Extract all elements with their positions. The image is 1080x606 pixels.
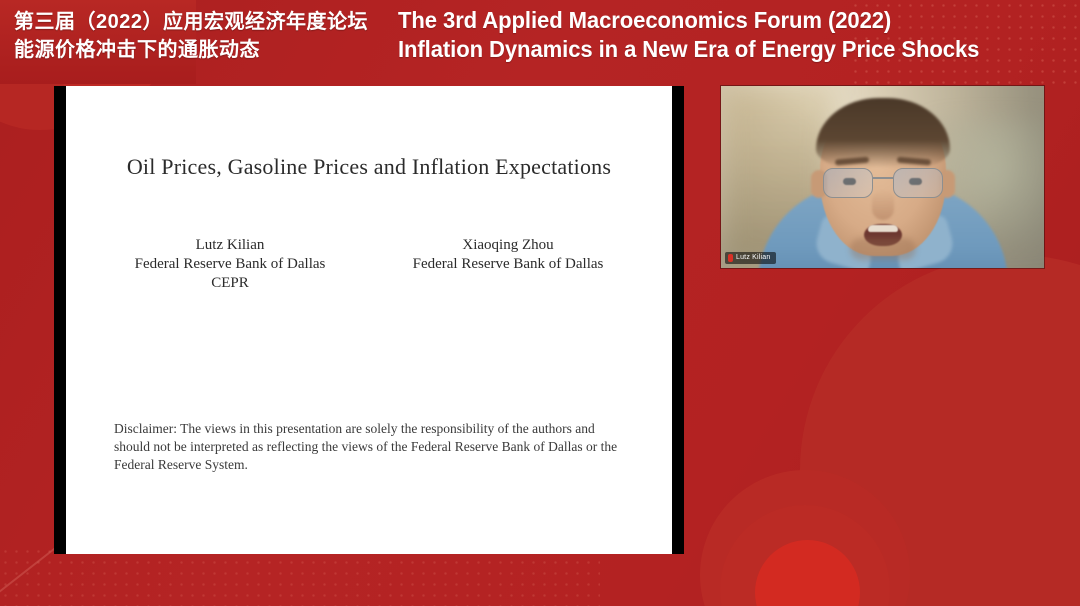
participant-hair [816, 98, 950, 168]
header-title-chinese-line1: 第三届（2022）应用宏观经济年度论坛 [14, 11, 368, 33]
author-affiliation-primary: Federal Reserve Bank of Dallas [112, 255, 348, 274]
presentation-slide[interactable]: Oil Prices, Gasoline Prices and Inflatio… [66, 86, 672, 554]
slide-title: Oil Prices, Gasoline Prices and Inflatio… [66, 154, 672, 180]
forum-banner-header: 第三届（2022）应用宏观经济年度论坛 能源价格冲击下的通胀动态 The 3rd… [0, 0, 1080, 80]
participant-name-label: Lutz Kilian [736, 254, 771, 262]
header-title-english: The 3rd Applied Macroeconomics Forum (20… [398, 6, 979, 64]
presentation-stream-view: 第三届（2022）应用宏观经济年度论坛 能源价格冲击下的通胀动态 The 3rd… [0, 0, 1080, 606]
author-name: Lutz Kilian [112, 236, 348, 255]
participant-figure [721, 86, 1044, 268]
shared-screen-frame[interactable]: Oil Prices, Gasoline Prices and Inflatio… [54, 86, 684, 554]
participant-nose [872, 190, 894, 220]
slide-disclaimer: Disclaimer: The views in this presentati… [114, 420, 622, 474]
glasses-bridge [873, 177, 893, 179]
author-entry: Xiaoqing Zhou Federal Reserve Bank of Da… [390, 236, 626, 293]
participant-teeth [868, 225, 898, 232]
header-title-english-line1: The 3rd Applied Macroeconomics Forum (20… [398, 7, 891, 33]
participant-chin-shadow [850, 238, 916, 260]
author-entry: Lutz Kilian Federal Reserve Bank of Dall… [112, 236, 348, 293]
header-title-chinese-line2: 能源价格冲击下的通胀动态 [14, 39, 260, 61]
participant-name-badge: Lutz Kilian [725, 252, 776, 264]
participant-video-tile[interactable]: Lutz Kilian [721, 86, 1044, 268]
author-affiliation-secondary: CEPR [112, 274, 348, 293]
glasses-lens-left [823, 168, 873, 198]
header-title-english-line2: Inflation Dynamics in a New Era of Energ… [398, 36, 979, 62]
slide-author-block: Lutz Kilian Federal Reserve Bank of Dall… [96, 236, 642, 293]
author-affiliation-primary: Federal Reserve Bank of Dallas [390, 255, 626, 274]
author-name: Xiaoqing Zhou [390, 236, 626, 255]
header-title-chinese: 第三届（2022）应用宏观经济年度论坛 能源价格冲击下的通胀动态 [14, 8, 368, 64]
glasses-lens-right [893, 168, 943, 198]
microphone-muted-icon [728, 254, 733, 262]
